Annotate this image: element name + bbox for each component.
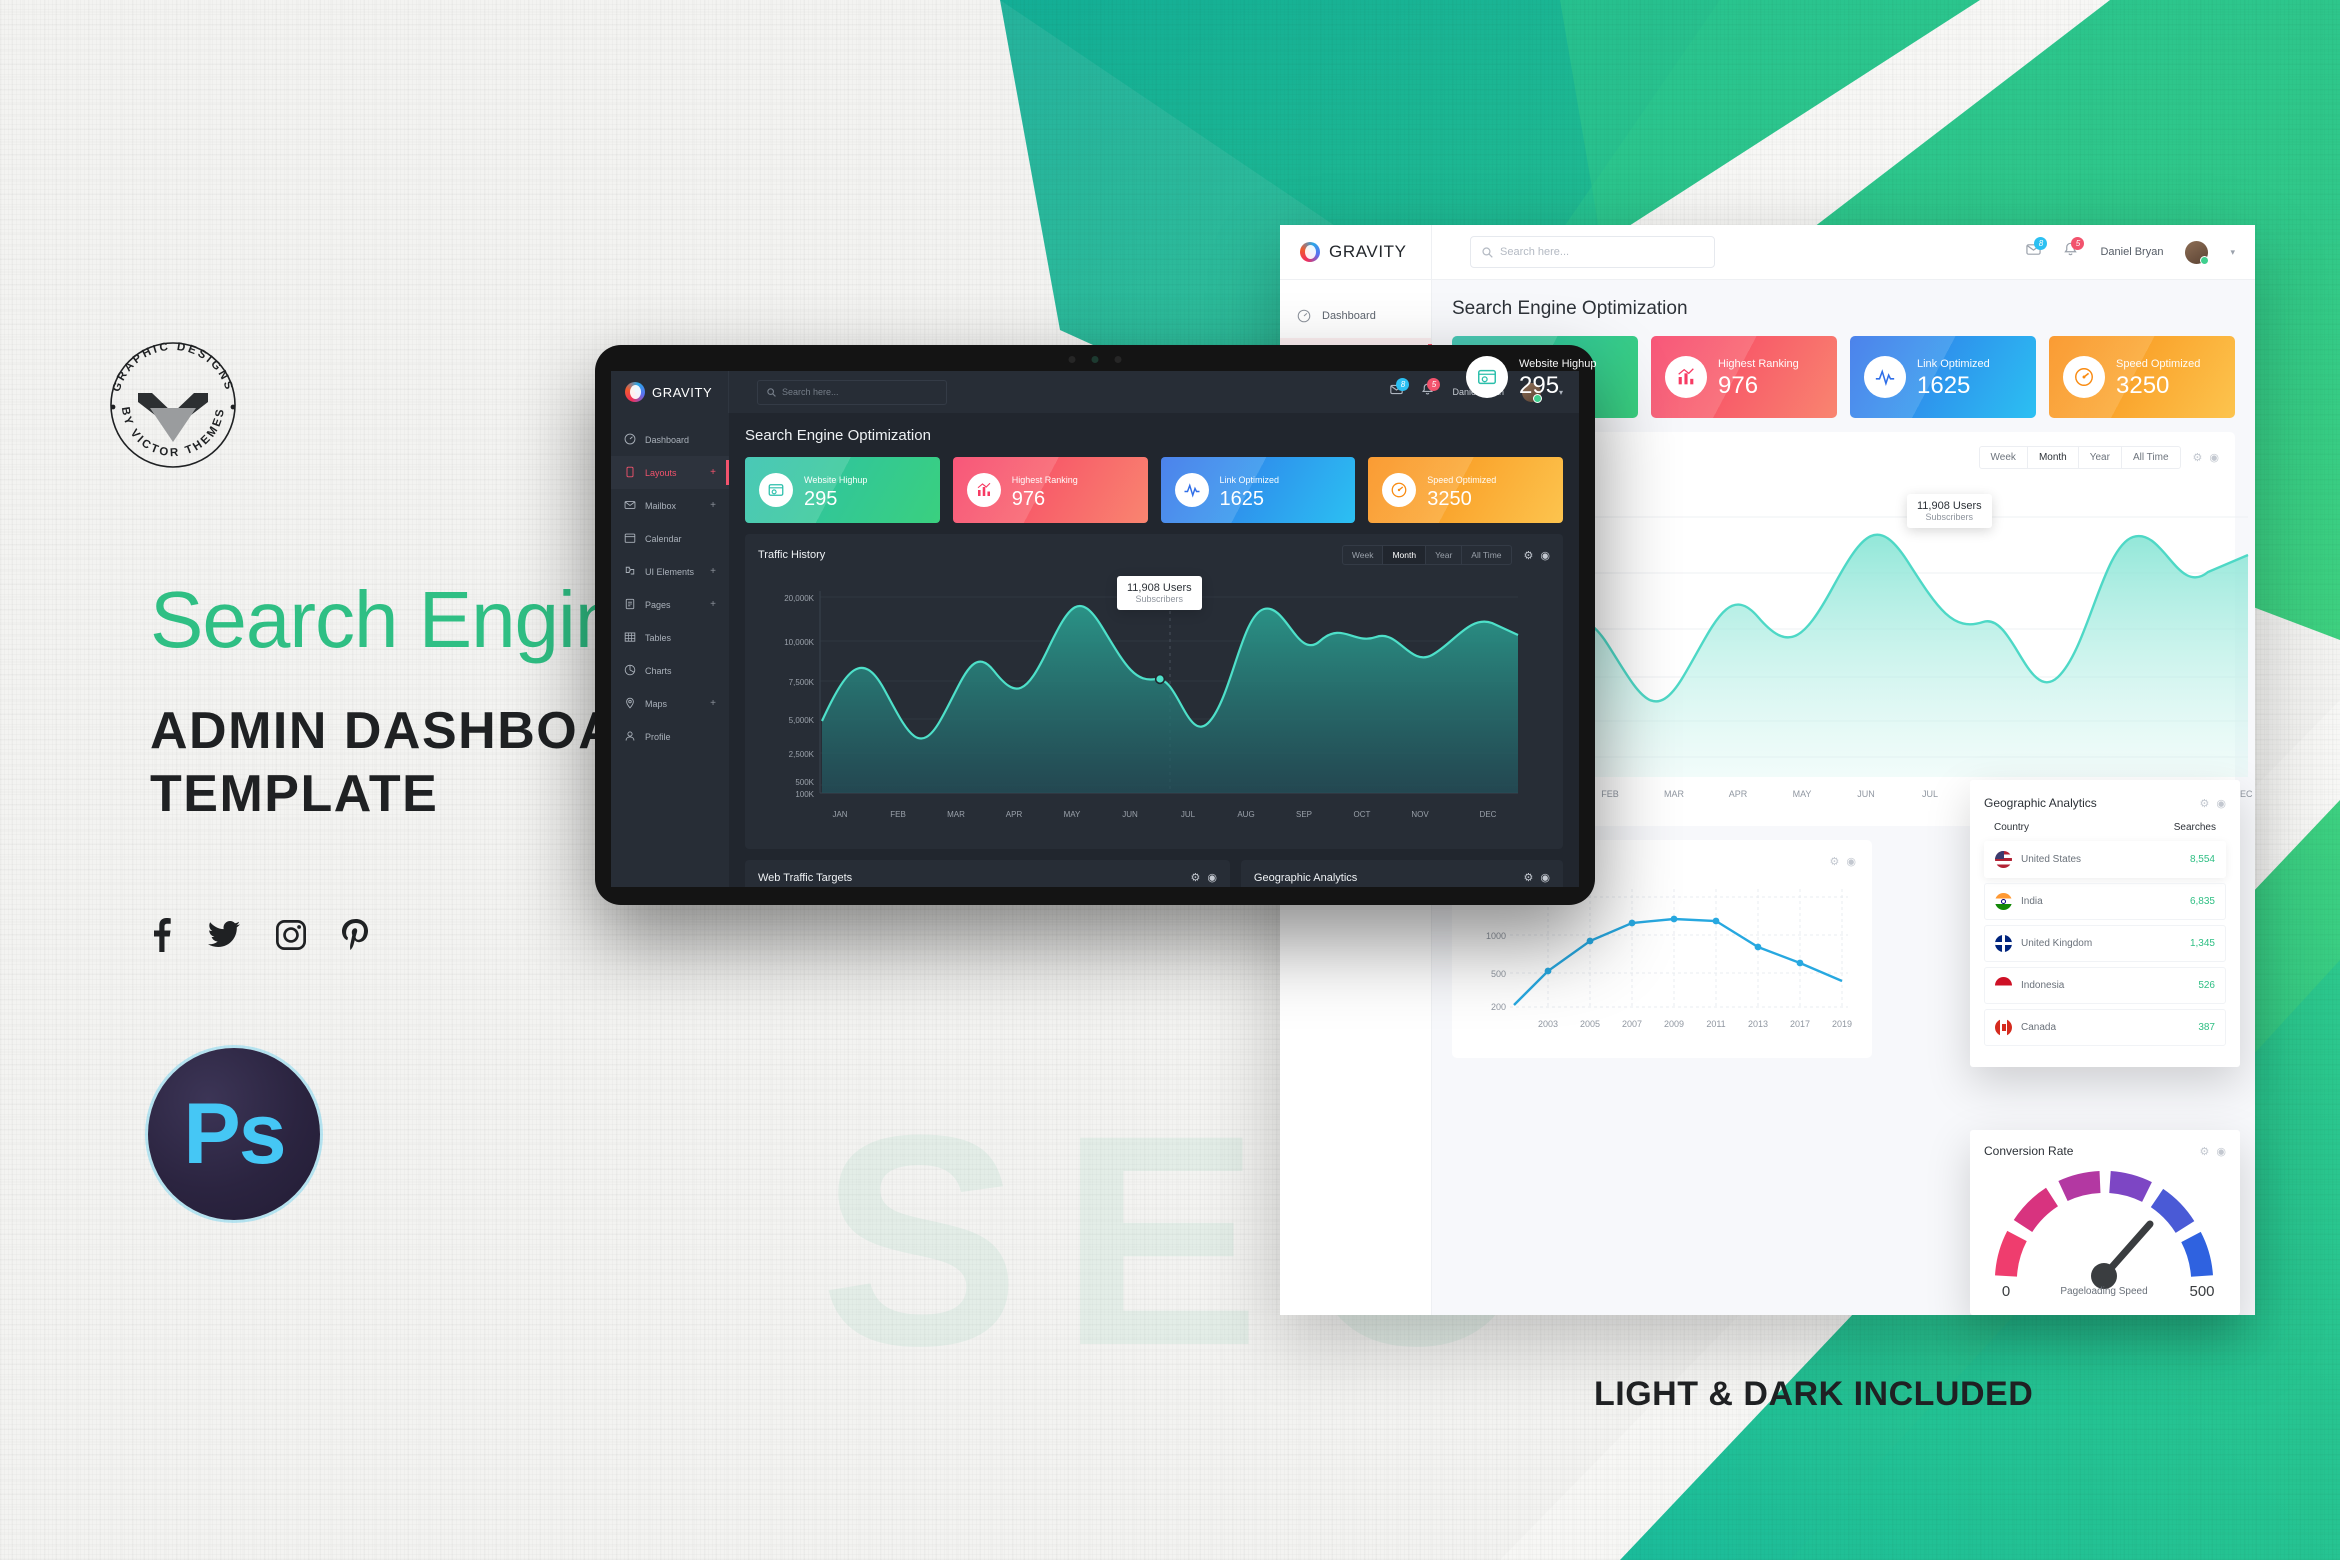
search-icon	[767, 388, 776, 397]
gravity-logo-icon	[1300, 242, 1320, 262]
svg-text:FEB: FEB	[890, 810, 906, 819]
gravity-logo-icon	[625, 382, 645, 402]
stat-label: Highest Ranking	[1718, 358, 1799, 370]
dark-dashboard-tablet: GRAVITY Search here... 8 5 Daniel Bryan	[595, 345, 1595, 905]
messages-count-badge: 8	[2034, 237, 2047, 250]
stat-card-link-optimized[interactable]: Link Optimized 1625	[1161, 457, 1356, 523]
stat-value: 3250	[2116, 372, 2169, 399]
sidebar-item-label: Maps	[645, 699, 667, 709]
dark-topbar: GRAVITY Search here... 8 5 Daniel Bryan	[611, 371, 1579, 413]
calendar-icon	[624, 532, 636, 546]
sidebar-item-label: Dashboard	[1322, 310, 1376, 322]
social-links	[150, 918, 368, 957]
search-icon	[1482, 247, 1493, 258]
page-title: Search Engine	[150, 580, 662, 660]
gear-icon[interactable]: ⚙	[1524, 871, 1534, 884]
close-icon[interactable]: ◉	[2216, 1145, 2226, 1158]
svg-text:2005: 2005	[1580, 1019, 1600, 1029]
stat-label: Speed Optimized	[2116, 358, 2200, 370]
search-count: 1,345	[2190, 938, 2215, 949]
range-all-time[interactable]: All Time	[2122, 447, 2180, 468]
stat-value: 976	[1012, 488, 1045, 510]
stat-card-highest-ranking[interactable]: Highest Ranking 976	[953, 457, 1148, 523]
geo-row[interactable]: Canada 387	[1984, 1009, 2226, 1046]
stat-card-website-highup[interactable]: Website Highup 295	[745, 457, 940, 523]
column-header-searches: Searches	[2174, 822, 2216, 833]
panel-title: Geographic Analytics	[1254, 872, 1357, 884]
svg-text:NOV: NOV	[1411, 810, 1429, 819]
sidebar-item-label: Mailbox	[645, 501, 676, 511]
close-icon[interactable]: ◉	[2209, 451, 2219, 464]
tooltip-value: 11,908 Users	[1917, 500, 1982, 512]
expand-icon[interactable]: +	[710, 467, 716, 478]
svg-text:2017: 2017	[1790, 1019, 1810, 1029]
stat-label: Website Highup	[1519, 358, 1596, 370]
chevron-down-icon[interactable]: ▾	[2230, 247, 2235, 258]
browser-gear-icon	[1466, 356, 1508, 398]
brand[interactable]: GRAVITY	[611, 371, 729, 413]
gear-icon[interactable]: ⚙	[1830, 855, 1840, 868]
geo-row[interactable]: India 6,835	[1984, 883, 2226, 920]
bar-chart-icon	[1665, 356, 1707, 398]
close-icon[interactable]: ◉	[1540, 549, 1550, 562]
svg-text:JUN: JUN	[1122, 810, 1138, 819]
stat-value: 295	[804, 488, 837, 510]
alerts-button[interactable]: 5	[2063, 242, 2078, 262]
instagram-icon[interactable]	[276, 920, 306, 955]
svg-text:APR: APR	[1729, 789, 1748, 799]
messages-button[interactable]: 8	[2026, 242, 2041, 262]
sidebar-item-dashboard[interactable]: Dashboard	[1280, 294, 1431, 338]
stat-card-highest-ranking[interactable]: Highest Ranking 976	[1651, 336, 1837, 418]
browser-gear-icon	[759, 473, 793, 507]
gear-icon[interactable]: ⚙	[1524, 549, 1534, 562]
table-header: Channel Progress Sessions Con. Rate Sess…	[758, 884, 1217, 887]
dashboard-icon	[624, 433, 636, 447]
chart-pie-icon	[624, 664, 636, 678]
stat-card-speed-optimized[interactable]: Speed Optimized 3250	[2049, 336, 2235, 418]
alerts-count-badge: 5	[1427, 378, 1440, 391]
us-flag-icon	[1995, 851, 2012, 868]
range-selector: Week Month Year All Time	[1342, 545, 1512, 565]
range-month[interactable]: Month	[1383, 546, 1426, 564]
conversion-gauge: 0 500 Pageloading Speed	[1984, 1164, 2224, 1299]
svg-text:JAN: JAN	[832, 810, 847, 819]
sidebar-item-dashboard[interactable]: Dashboard	[611, 423, 729, 456]
chart-tooltip-light: 11,908 Users Subscribers	[1907, 494, 1992, 528]
country-name: Indonesia	[2021, 980, 2064, 991]
expand-icon[interactable]: +	[710, 566, 716, 577]
sidebar-item-label: Calendar	[645, 534, 682, 544]
geo-row[interactable]: Indonesia 526	[1984, 967, 2226, 1004]
puzzle-icon	[624, 565, 636, 579]
twitter-icon[interactable]	[208, 921, 240, 954]
search-input[interactable]: Search here...	[757, 380, 947, 405]
ytick-label: 5,000K	[789, 716, 815, 725]
close-icon[interactable]: ◉	[2216, 797, 2226, 810]
avatar[interactable]	[2185, 241, 2208, 264]
speedometer-icon	[2063, 356, 2105, 398]
sidebar-item-label: Profile	[645, 732, 671, 742]
svg-text:GRAPHIC DESIGNS: GRAPHIC DESIGNS	[111, 341, 236, 393]
brand[interactable]: GRAVITY	[1280, 225, 1432, 279]
id-flag-icon	[1995, 977, 2012, 994]
column-header-country: Country	[1994, 822, 2029, 833]
svg-text:200: 200	[1491, 1002, 1506, 1012]
search-placeholder: Search here...	[782, 387, 839, 397]
messages-button[interactable]: 8	[1390, 383, 1403, 401]
svg-text:2011: 2011	[1706, 1019, 1725, 1029]
range-week[interactable]: Week	[1980, 447, 2028, 468]
expand-icon[interactable]: +	[710, 500, 716, 511]
user-name: Daniel Bryan	[2100, 246, 2163, 258]
bottom-tables: Web Traffic Targets ⚙ ◉ Channel Progress…	[745, 860, 1563, 887]
layouts-icon	[624, 466, 636, 480]
sidebar-item-label: UI Elements	[645, 567, 694, 577]
ytick-label: 100K	[795, 790, 814, 799]
geographic-analytics-panel-dark: Geographic Analytics ⚙ ◉ Country Searche…	[1241, 860, 1563, 887]
ytick-label: 10,000K	[784, 638, 814, 647]
table-header: Country Searches	[1254, 884, 1550, 887]
table-icon	[624, 631, 636, 645]
page-heading: Search Engine Optimization	[1452, 298, 2235, 320]
stat-cards: Website Highup 295 Highest Ranking 976	[745, 457, 1563, 523]
pulse-icon	[1175, 473, 1209, 507]
tooltip-label: Subscribers	[1127, 594, 1192, 604]
topbar-actions: 8 5 Daniel Bryan ▾	[2026, 241, 2255, 264]
sidebar-item-calendar[interactable]: Calendar	[611, 522, 729, 555]
stat-label: Link Optimized	[1917, 358, 1990, 370]
search-count: 8,554	[2190, 854, 2215, 865]
geographic-analytics-panel: Geographic Analytics ⚙ ◉ Country Searche…	[1970, 780, 2240, 1067]
alerts-button[interactable]: 5	[1421, 383, 1434, 401]
stat-value: 976	[1718, 372, 1758, 399]
range-year[interactable]: Year	[1426, 546, 1462, 564]
country-name: United States	[2021, 854, 2081, 865]
search-input[interactable]: Search here...	[1470, 236, 1715, 268]
close-icon[interactable]: ◉	[1207, 871, 1217, 884]
bar-chart-icon	[967, 473, 1001, 507]
svg-text:MAR: MAR	[1664, 789, 1685, 799]
light-dark-caption: LIGHT & DARK INCLUDED	[1594, 1375, 2033, 1414]
expand-icon[interactable]: +	[710, 698, 716, 709]
svg-text:AUG: AUG	[1237, 810, 1254, 819]
pulse-icon	[1864, 356, 1906, 398]
brand-name: GRAVITY	[1329, 242, 1407, 262]
svg-text:2019: 2019	[1832, 1019, 1852, 1029]
uk-flag-icon	[1995, 935, 2012, 952]
photoshop-badge: Ps	[148, 1048, 320, 1220]
svg-text:SEP: SEP	[1296, 810, 1312, 819]
sidebar-item-layouts[interactable]: Layouts +	[611, 456, 729, 489]
dark-sidebar: Dashboard Layouts + Mailbox + Calen	[611, 413, 729, 887]
country-name: United Kingdom	[2021, 938, 2092, 949]
victor-themes-badge: GRAPHIC DESIGNS BY VICTOR THEMES	[98, 330, 248, 480]
panel-title: Traffic History	[758, 549, 825, 561]
svg-text:APR: APR	[1006, 810, 1023, 819]
sidebar-item-charts[interactable]: Charts	[611, 654, 729, 687]
messages-count-badge: 8	[1396, 378, 1409, 391]
svg-text:OCT: OCT	[1354, 810, 1371, 819]
sidebar-item-maps[interactable]: Maps +	[611, 687, 729, 720]
gear-icon[interactable]: ⚙	[1190, 871, 1200, 884]
svg-text:2009: 2009	[1664, 1019, 1684, 1029]
ytick-label: 7,500K	[789, 678, 815, 687]
in-flag-icon	[1995, 893, 2012, 910]
expand-icon[interactable]: +	[710, 599, 716, 610]
sidebar-item-label: Tables	[645, 633, 671, 643]
pinterest-icon[interactable]	[342, 919, 368, 956]
sidebar-item-pages[interactable]: Pages +	[611, 588, 729, 621]
map-pin-icon	[624, 697, 636, 711]
dark-main: Search Engine Optimization Website Highu…	[729, 413, 1579, 887]
gauge-label: Pageloading Speed	[2060, 1286, 2147, 1297]
stat-label: Link Optimized	[1220, 475, 1280, 485]
tablet-camera	[1069, 356, 1122, 363]
geo-row[interactable]: United States 8,554	[1984, 841, 2226, 878]
panel-title: Geographic Analytics	[1984, 796, 2097, 810]
tooltip-label: Subscribers	[1917, 512, 1982, 522]
range-all-time[interactable]: All Time	[1462, 546, 1510, 564]
gear-icon[interactable]: ⚙	[2200, 797, 2210, 810]
web-traffic-targets-panel: Web Traffic Targets ⚙ ◉ Channel Progress…	[745, 860, 1230, 887]
range-year[interactable]: Year	[2079, 447, 2122, 468]
range-selector: Week Month Year All Time	[1979, 446, 2181, 469]
tablet-screen: GRAVITY Search here... 8 5 Daniel Bryan	[611, 371, 1579, 887]
svg-text:2007: 2007	[1622, 1019, 1642, 1029]
user-icon	[624, 730, 636, 744]
close-icon[interactable]: ◉	[1846, 855, 1856, 868]
panel-title: Conversion Rate	[1984, 1144, 2073, 1158]
sidebar-item-mailbox[interactable]: Mailbox +	[611, 489, 729, 522]
svg-text:2013: 2013	[1748, 1019, 1768, 1029]
stat-value: 1625	[1220, 488, 1265, 510]
sidebar-item-label: Charts	[645, 666, 672, 676]
mail-icon	[624, 499, 636, 513]
stat-value: 295	[1519, 372, 1559, 399]
sidebar-item-tables[interactable]: Tables	[611, 621, 729, 654]
search-placeholder: Search here...	[1500, 246, 1569, 258]
close-icon[interactable]: ◉	[1540, 871, 1550, 884]
range-month[interactable]: Month	[2028, 447, 2079, 468]
ca-flag-icon	[1995, 1019, 2012, 1036]
chart-tooltip-dark: 11,908 Users Subscribers	[1117, 576, 1202, 610]
geo-row[interactable]: United Kingdom 1,345	[1984, 925, 2226, 962]
sidebar-item-ui-elements[interactable]: UI Elements +	[611, 555, 729, 588]
ytick-label: 20,000K	[784, 594, 814, 603]
sidebar-item-label: Layouts	[645, 468, 677, 478]
panel-title: Web Traffic Targets	[758, 872, 852, 884]
svg-text:JUL: JUL	[1922, 789, 1938, 799]
page-heading: Search Engine Optimization	[745, 427, 1563, 444]
alerts-count-badge: 5	[2071, 237, 2084, 250]
traffic-history-panel-dark: Traffic History Week Month Year All Time…	[745, 534, 1563, 849]
stat-label: Speed Optimized	[1427, 475, 1496, 485]
gear-icon[interactable]: ⚙	[2200, 1145, 2210, 1158]
country-name: Canada	[2021, 1022, 2056, 1033]
ytick-label: 2,500K	[789, 750, 815, 759]
sidebar-item-label: Pages	[645, 600, 671, 610]
range-week[interactable]: Week	[1343, 546, 1384, 564]
facebook-icon[interactable]	[150, 918, 172, 957]
svg-text:MAY: MAY	[1793, 789, 1812, 799]
svg-text:DEC: DEC	[1480, 810, 1497, 819]
svg-text:MAY: MAY	[1064, 810, 1081, 819]
svg-text:500: 500	[1491, 969, 1506, 979]
gauge-max: 500	[2189, 1283, 2214, 1299]
tooltip-value: 11,908 Users	[1127, 582, 1192, 594]
gauge-min: 0	[2002, 1283, 2010, 1299]
brand-name: GRAVITY	[652, 385, 712, 400]
ytick-label: 500K	[795, 778, 814, 787]
stat-value: 1625	[1917, 372, 1970, 399]
svg-text:FEB: FEB	[1601, 789, 1619, 799]
light-topbar: GRAVITY Search here... 8 5 Daniel Bryan …	[1280, 225, 2255, 280]
traffic-chart-dark: 20,000K 10,000K 7,500K 5,000K 2,500K 500…	[758, 571, 1526, 833]
sidebar-item-profile[interactable]: Profile	[611, 720, 729, 753]
stat-card-speed-optimized[interactable]: Speed Optimized 3250	[1368, 457, 1563, 523]
svg-text:JUL: JUL	[1181, 810, 1196, 819]
stat-label: Website Highup	[804, 475, 867, 485]
conversion-rate-panel: Conversion Rate ⚙ ◉ 0 500 Pageloading Sp…	[1970, 1130, 2240, 1315]
country-name: India	[2021, 896, 2043, 907]
stat-card-link-optimized[interactable]: Link Optimized 1625	[1850, 336, 2036, 418]
svg-text:2003: 2003	[1538, 1019, 1558, 1029]
speedometer-icon	[1382, 473, 1416, 507]
svg-text:MAR: MAR	[947, 810, 965, 819]
stat-value: 3250	[1427, 488, 1472, 510]
search-count: 526	[2198, 980, 2215, 991]
stat-label: Highest Ranking	[1012, 475, 1078, 485]
dashboard-icon	[1296, 309, 1311, 324]
page-icon	[624, 598, 636, 612]
sidebar-item-label: Dashboard	[645, 435, 689, 445]
svg-text:JUN: JUN	[1857, 789, 1875, 799]
svg-text:1000: 1000	[1486, 931, 1506, 941]
search-count: 387	[2198, 1022, 2215, 1033]
search-count: 6,835	[2190, 896, 2215, 907]
gear-icon[interactable]: ⚙	[2193, 451, 2203, 464]
